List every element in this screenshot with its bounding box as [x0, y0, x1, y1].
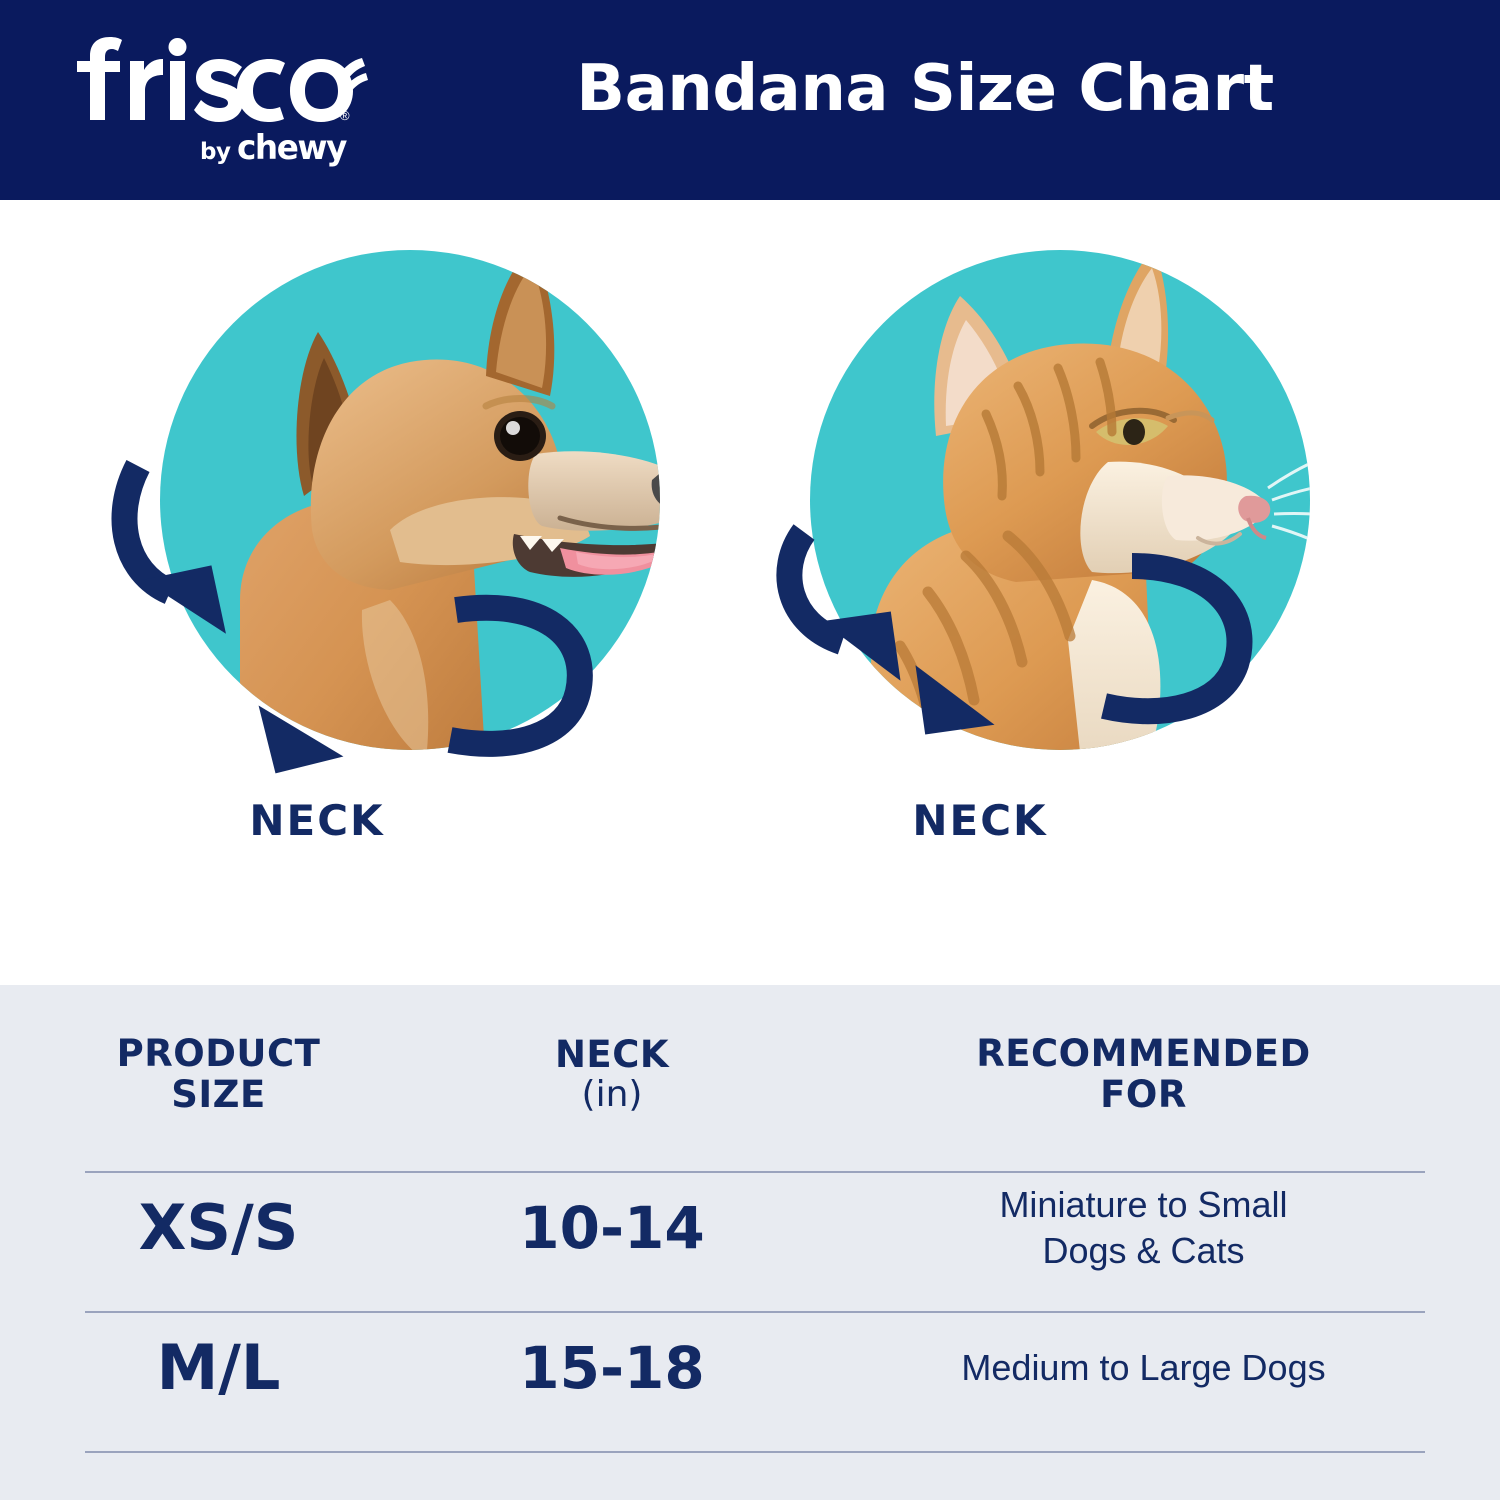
cat-neck-label: NECK — [660, 796, 1300, 845]
table-row: M/L 15-18 Medium to Large Dogs — [0, 1298, 1500, 1438]
row-1-neck: 15-18 — [437, 1298, 787, 1438]
logo-by-text: by — [200, 139, 230, 165]
header-product-size-line2: SIZE — [0, 1074, 437, 1115]
header-recommended-line2: FOR — [787, 1074, 1500, 1115]
page-title: Bandana Size Chart — [400, 52, 1450, 126]
row-1-recommended-line1: Medium to Large Dogs — [787, 1345, 1500, 1391]
logo-chewy-text: chewy — [237, 128, 346, 168]
row-1-recommended: Medium to Large Dogs — [787, 1298, 1500, 1438]
header-neck: NECK (in) — [437, 985, 787, 1158]
illustration-zone: NECK — [0, 200, 1500, 985]
cat-illustration-card: NECK — [740, 200, 1380, 985]
frisco-wordmark-icon — [72, 36, 372, 126]
row-0-recommended-line1: Miniature to Small — [787, 1182, 1500, 1228]
size-table: PRODUCT SIZE NECK (in) RECOMMENDED — [0, 985, 1500, 1438]
header-row: PRODUCT SIZE NECK (in) RECOMMENDED — [0, 985, 1500, 1158]
table-rule-row-divider — [85, 1311, 1425, 1313]
row-0-recommended-line2: Dogs & Cats — [787, 1228, 1500, 1274]
row-0-product-size: XS/S — [0, 1158, 437, 1298]
header-recommended-for: RECOMMENDED FOR — [787, 985, 1500, 1158]
dog-head-icon — [90, 200, 730, 840]
dog-illustration-card: NECK — [90, 200, 730, 985]
size-chart-page: ® by chewy Bandana Size Chart — [0, 0, 1500, 1500]
header-product-size-line1: PRODUCT — [0, 1033, 437, 1074]
row-0-recommended: Miniature to Small Dogs & Cats — [787, 1158, 1500, 1298]
size-table-header: PRODUCT SIZE NECK (in) RECOMMENDED — [0, 985, 1500, 1158]
header-neck-units: (in) — [437, 1075, 787, 1115]
registered-mark-icon: ® — [340, 108, 350, 123]
header-recommended-line1: RECOMMENDED — [787, 1033, 1500, 1074]
header-product-size: PRODUCT SIZE — [0, 985, 437, 1158]
cat-head-icon — [740, 200, 1380, 840]
dog-neck-label: NECK — [0, 796, 637, 845]
table-rule-bottom — [85, 1451, 1425, 1453]
row-0-neck: 10-14 — [437, 1158, 787, 1298]
table-rule-header-divider — [85, 1171, 1425, 1173]
header-neck-line1: NECK — [437, 1034, 787, 1075]
size-table-body: XS/S 10-14 Miniature to Small Dogs & Cat… — [0, 1158, 1500, 1438]
size-table-panel: PRODUCT SIZE NECK (in) RECOMMENDED — [0, 985, 1500, 1500]
table-row: XS/S 10-14 Miniature to Small Dogs & Cat… — [0, 1158, 1500, 1298]
row-1-product-size: M/L — [0, 1298, 437, 1438]
by-chewy-lockup: by chewy — [200, 128, 351, 168]
header-band: ® by chewy Bandana Size Chart — [0, 0, 1500, 200]
frisco-logo: ® by chewy — [72, 36, 372, 166]
